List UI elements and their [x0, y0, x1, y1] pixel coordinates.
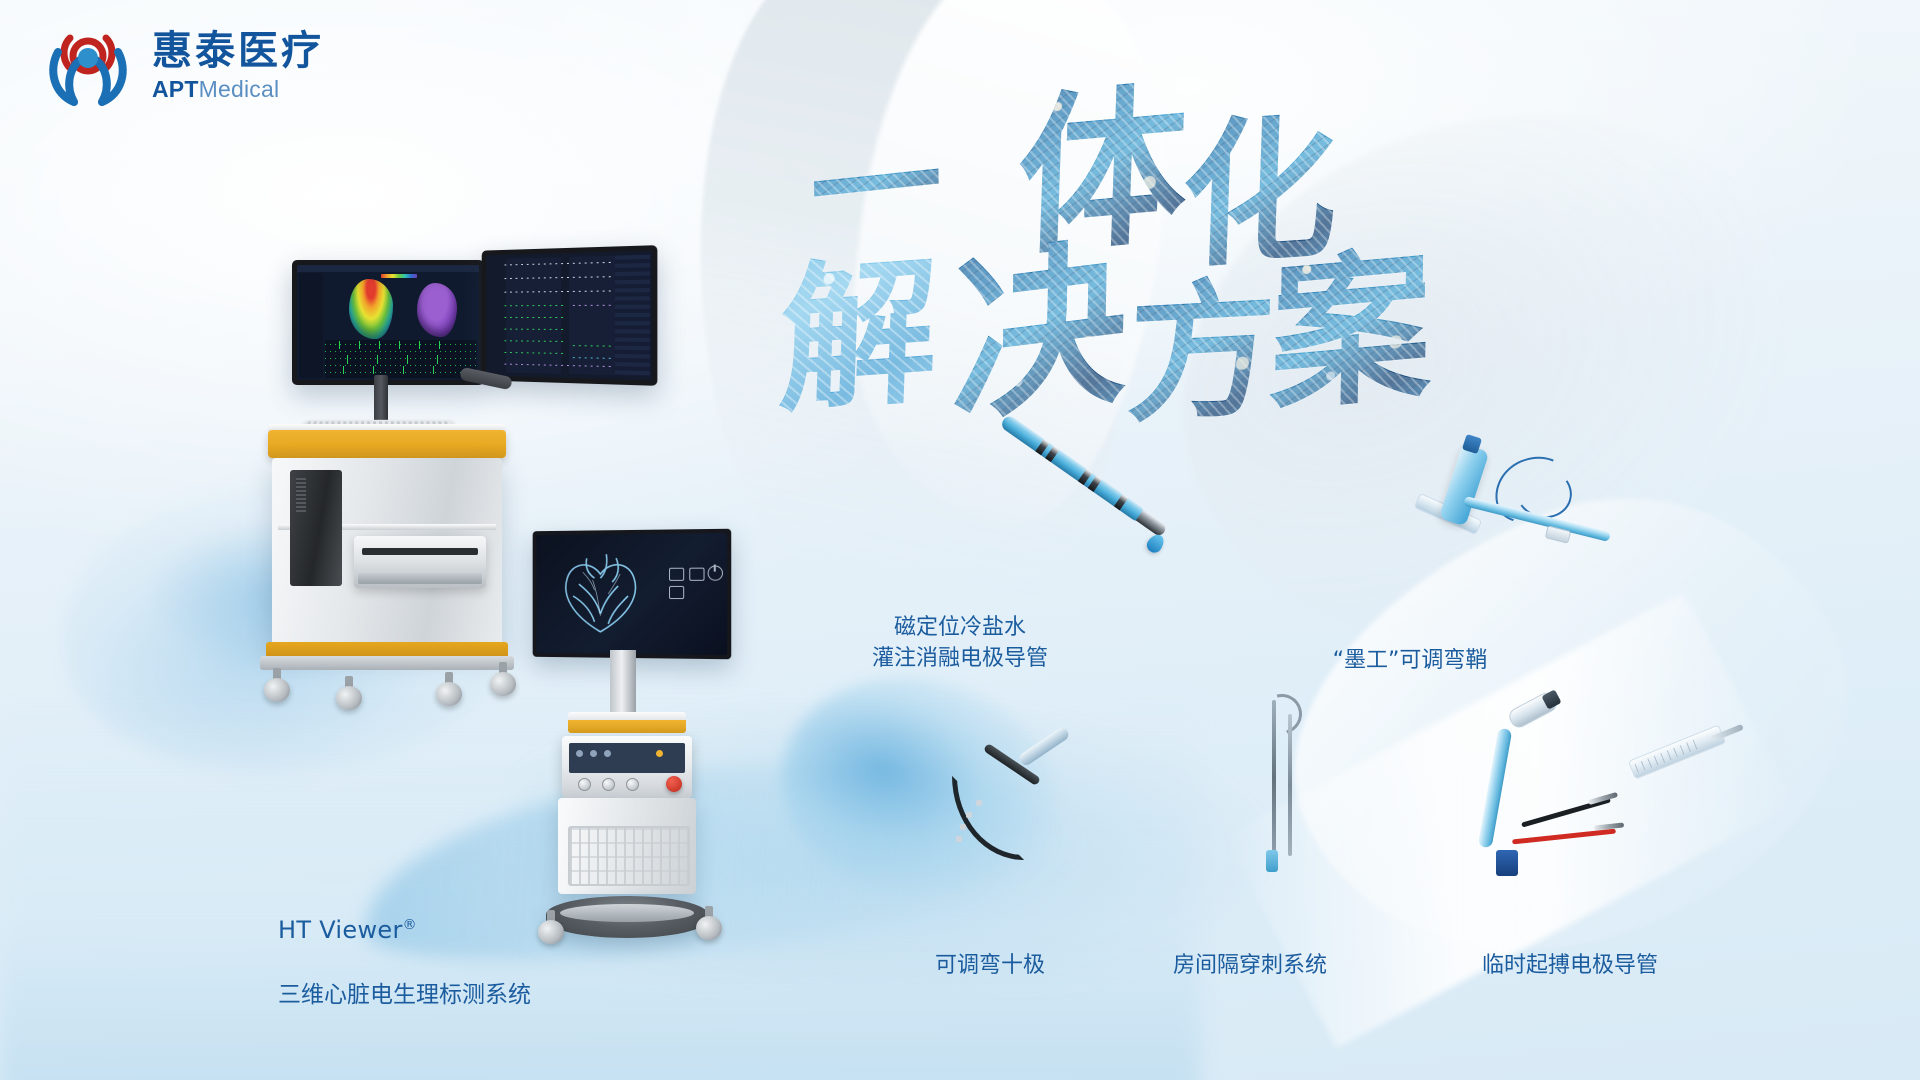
3d-cardiac-mapping-screen	[297, 265, 479, 380]
brand-apt-text: APT	[152, 76, 199, 102]
caster-wheel	[336, 676, 362, 710]
cart-tray-accent	[568, 720, 686, 733]
decapolar-catheter-image	[950, 740, 1080, 870]
product-label-ht-viewer: HT Viewer® 三维心脏电生理标测系统	[278, 846, 598, 1045]
caster-wheel	[436, 672, 462, 706]
generator-power-button[interactable]	[666, 776, 682, 792]
generator-knob[interactable]	[626, 778, 639, 791]
product-label-pacing-catheter: 临时起搏电极导管	[1420, 950, 1720, 981]
product-label-decapolar: 可调弯十极	[880, 950, 1100, 981]
caster-wheel	[490, 662, 516, 696]
product-label-ablation-catheter: 磁定位冷盐水 灌注消融电极导管	[830, 612, 1090, 674]
heart-wireframe-graphic	[550, 544, 652, 640]
brand-name-zh: 惠泰医疗	[152, 31, 324, 71]
headline-char-7: 案	[1268, 192, 1434, 442]
product-label-transseptal: 房间隔穿刺系统	[1120, 950, 1380, 981]
cart-tray-accent	[268, 430, 506, 458]
generator-knob[interactable]	[578, 778, 591, 791]
heart-mesh-left	[349, 279, 393, 339]
product-label-steerable-sheath: “墨工”可调弯鞘	[1280, 645, 1540, 676]
brand-logo: 惠泰医疗 APTMedical	[40, 18, 324, 114]
cart-body	[272, 458, 502, 648]
pc-tower	[290, 470, 342, 586]
apt-medical-circles-logo-icon	[40, 18, 136, 114]
recording-monitor	[482, 245, 658, 386]
printer	[354, 536, 486, 588]
ht-viewer-name-zh: 三维心脏电生理标测系统	[278, 979, 598, 1012]
brand-name-en: APTMedical	[152, 78, 324, 101]
ep-recording-screen	[486, 251, 652, 381]
heart-mesh-right	[417, 283, 457, 337]
trademark-symbol: ®	[403, 917, 417, 933]
irrigation-droplet	[1144, 531, 1167, 555]
display-icon-3[interactable]	[669, 586, 684, 599]
ht-viewer-name-text: HT Viewer	[278, 916, 403, 944]
steerable-sheath-image	[1420, 440, 1640, 590]
headline-char-4: 解	[776, 202, 942, 443]
caster-wheel	[264, 668, 290, 702]
poster-canvas: 惠泰医疗 APTMedical 一 体 化 解 决 方 案	[0, 0, 1920, 1080]
ecg-trace-panel	[325, 340, 477, 378]
monitor-stand	[374, 375, 388, 421]
brand-medical-text: Medical	[199, 76, 280, 102]
ht-viewer-name-en: HT Viewer®	[278, 879, 598, 947]
transseptal-puncture-system-image	[1240, 700, 1320, 890]
headline-calligraphy: 一 体 化 解 决 方 案	[960, 40, 1640, 340]
heart-anatomy-screen	[536, 533, 727, 655]
headline-char-6: 方	[1124, 228, 1279, 451]
generator-display-panel	[569, 743, 685, 773]
display-icon-1[interactable]	[669, 568, 684, 581]
monitor-pole	[610, 650, 636, 716]
display-icon-2[interactable]	[689, 568, 704, 581]
power-icon[interactable]	[708, 565, 723, 580]
generator-knob[interactable]	[602, 778, 615, 791]
caster-wheel	[696, 906, 722, 940]
mapping-monitor	[292, 260, 484, 385]
rf-generator-unit	[562, 736, 692, 798]
heart-display-monitor	[533, 529, 732, 660]
temporary-pacing-catheter-image	[1460, 700, 1740, 910]
cart-base	[260, 656, 514, 670]
